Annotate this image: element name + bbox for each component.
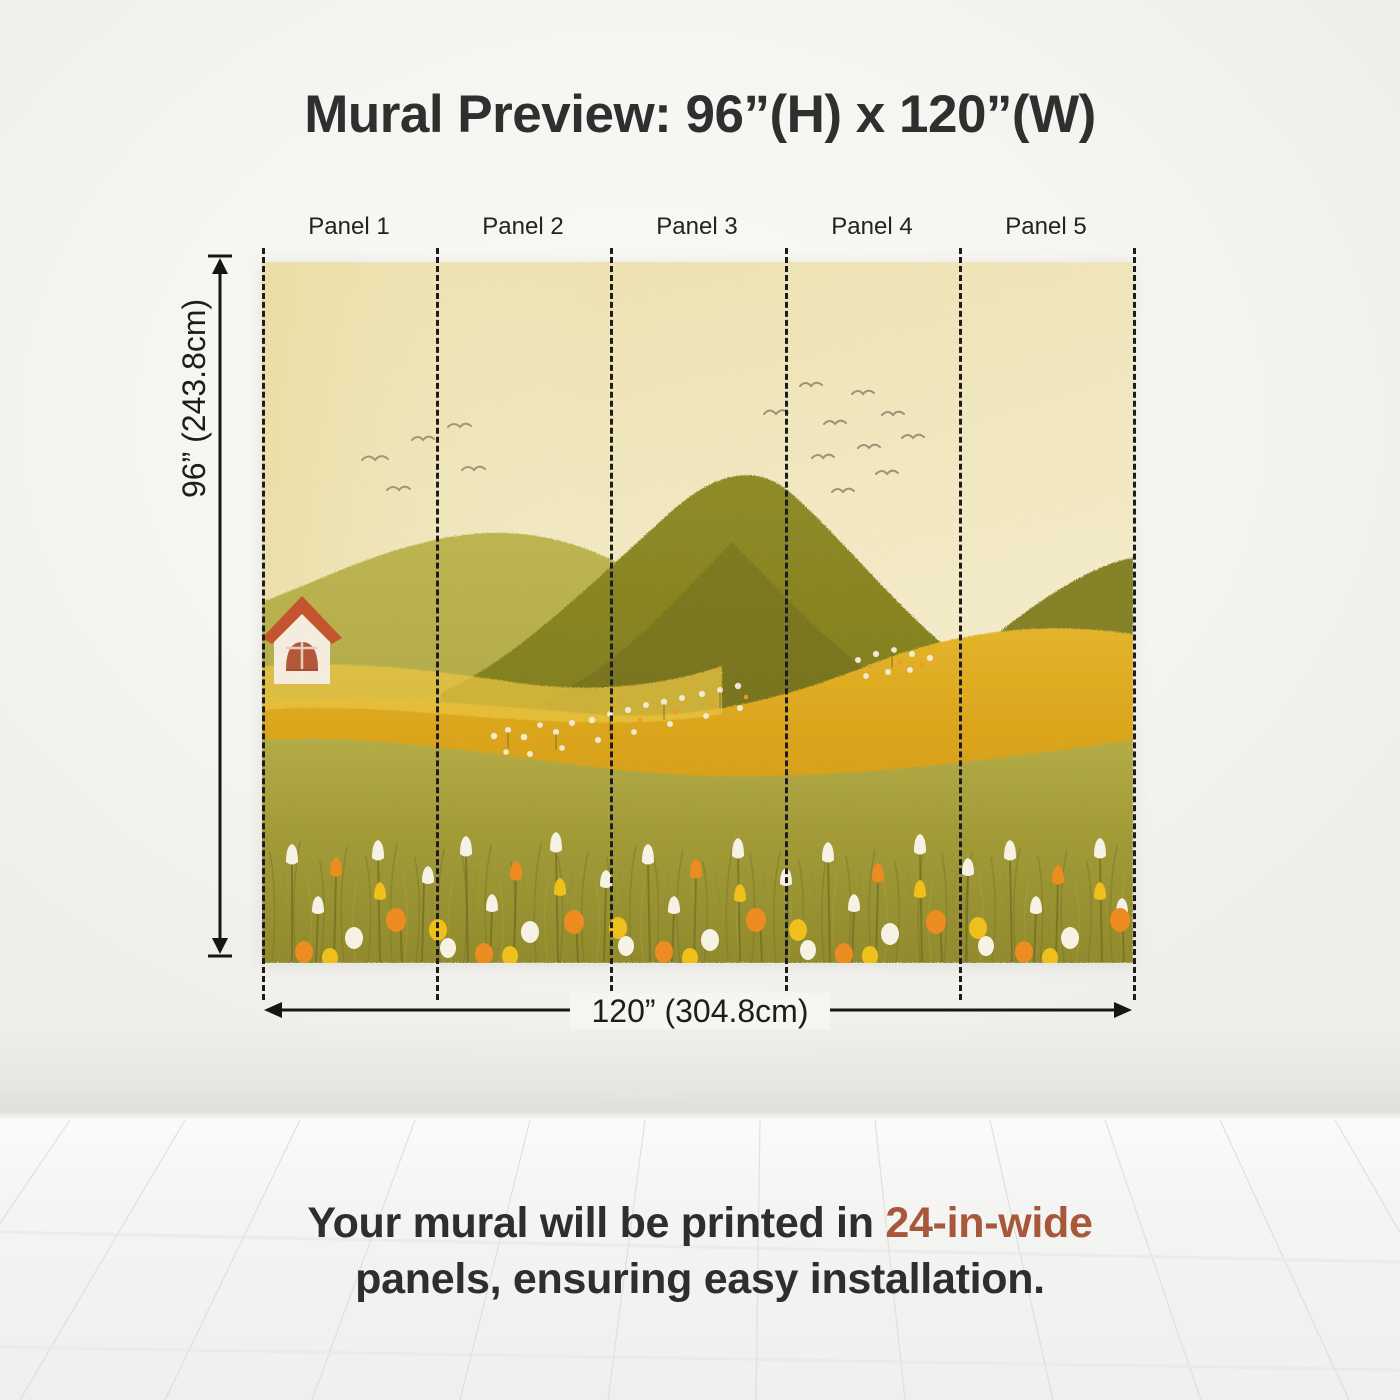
page-title: Mural Preview: 96”(H) x 120”(W) [0,84,1400,145]
panel-label-3: Panel 3 [610,213,784,241]
panel-label-2: Panel 2 [436,213,610,241]
footer-caption: Your mural will be printed in 24-in-wide… [0,1196,1400,1308]
width-dimension-label: 120” (304.8cm) [0,993,1400,1030]
panel-guide-4-5 [959,248,962,1000]
mural-preview-artwork [262,262,1133,963]
caption-line-2: panels, ensuring easy installation. [0,1252,1400,1308]
panel-guide-2-3 [610,248,613,1000]
caption-line-1: Your mural will be printed in 24-in-wide [0,1196,1400,1252]
caption-text-before: Your mural will be printed in [307,1199,885,1247]
panel-label-1: Panel 1 [262,213,436,241]
width-dimension-text: 120” (304.8cm) [570,993,831,1029]
panel-guide-1-2 [436,248,439,1000]
panel-label-5: Panel 5 [959,213,1133,241]
caption-accent-text: 24-in-wide [885,1199,1092,1247]
panel-guide-3-4 [785,248,788,1000]
height-dimension-label: 96” (243.8cm) [176,299,213,498]
panel-guide-right-edge [1133,248,1136,1000]
mural-illustration [262,262,1133,963]
panel-label-4: Panel 4 [785,213,959,241]
panel-guide-left-edge [262,248,265,1000]
